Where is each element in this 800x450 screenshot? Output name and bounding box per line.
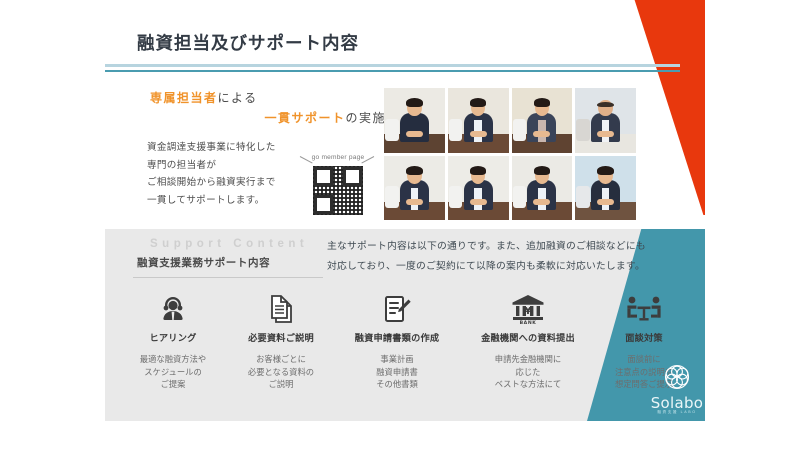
- support-item-description: 最適な融資方法や スケジュールの ご提案: [117, 353, 229, 391]
- staff-photo: [575, 156, 636, 221]
- brand-wordmark-sub: 融資支援 LABO: [649, 410, 705, 415]
- support-item-label: 面談対策: [595, 330, 693, 344]
- header-rule-thick: [105, 64, 680, 67]
- support-item-label: 必要資料ご説明: [229, 330, 333, 344]
- solabo-flower-logo: [660, 363, 694, 393]
- document-pencil-icon: [333, 291, 461, 325]
- subtitle-rest-2: の実施: [345, 111, 386, 125]
- qr-label: go member page: [304, 154, 372, 161]
- desc-line: ご説明: [229, 378, 333, 391]
- staff-photo: [448, 88, 509, 153]
- staff-photo: [384, 156, 445, 221]
- intro-paragraph: 資金調達支援事業に特化した 専門の担当者が ご相談開始から融資実行まで 一貫して…: [147, 139, 322, 209]
- subtitle-accent-2: 一貫サポート: [264, 111, 345, 125]
- staff-photo-grid: [384, 88, 636, 220]
- desc-line: 最適な融資方法や: [117, 353, 229, 366]
- support-item-label: 融資申請書類の作成: [333, 330, 461, 344]
- bank-icon: ¥ BANK: [461, 291, 595, 325]
- desc-line: 申請先金融機関に: [461, 353, 595, 366]
- staff-photo: [512, 156, 573, 221]
- support-item-description: 事業計画 融資申請書 その他書類: [333, 353, 461, 391]
- desc-line: スケジュールの: [117, 366, 229, 379]
- support-item-bank-submission[interactable]: ¥ BANK 金融機関への資料提出 申請先金融機関に 応じた ベストな方法にて: [461, 291, 595, 391]
- support-item-label: 金融機関への資料提出: [461, 330, 595, 344]
- staff-photo: [512, 88, 573, 153]
- panel-heading-jp: 融資支援業務サポート内容: [137, 255, 270, 270]
- intro-line: ご相談開始から融資実行まで: [147, 174, 322, 192]
- support-items-list: ヒアリング 最適な融資方法や スケジュールの ご提案: [117, 291, 693, 391]
- panel-description: 主なサポート内容は以下の通りです。また、追加融資のご相談などにも 対応しており、…: [327, 237, 697, 277]
- support-item-application[interactable]: 融資申請書類の作成 事業計画 融資申請書 その他書類: [333, 291, 461, 391]
- desc-line: お客様ごとに: [229, 353, 333, 366]
- desc-line: その他書類: [333, 378, 461, 391]
- intro-line: 専門の担当者が: [147, 157, 322, 175]
- documents-icon: [229, 291, 333, 325]
- panel-description-line: 対応しており、一度のご契約にて以降の案内も柔軟に対応いたします。: [327, 257, 697, 277]
- interview-table-icon: [595, 291, 693, 325]
- subtitle-rest-1: による: [218, 91, 258, 105]
- support-content-panel: Support Content 融資支援業務サポート内容 主なサポート内容は以下…: [105, 229, 705, 421]
- staff-photo: [575, 88, 636, 153]
- svg-text:¥: ¥: [525, 306, 532, 317]
- subtitle-accent-1: 専属担当者: [150, 91, 218, 105]
- subtitle: 専属担当者による 一貫サポートの実施: [150, 88, 390, 128]
- qr-code-icon[interactable]: [313, 166, 363, 215]
- desc-line: 融資申請書: [333, 366, 461, 379]
- intro-line: 資金調達支援事業に特化した: [147, 139, 322, 157]
- copyright-line: ©2021 SoLabo,Inc: [615, 420, 703, 431]
- copyright-line: All Rights Reserved: [615, 431, 703, 442]
- intro-line: 一貫してサポートします。: [147, 192, 322, 210]
- slide-canvas: 融資担当及びサポート内容 専属担当者による 一貫サポートの実施 資金調達支援事業…: [0, 0, 705, 450]
- header-rule-thin: [105, 70, 680, 72]
- panel-heading-rule: [133, 277, 323, 278]
- qr-block[interactable]: go member page: [301, 156, 373, 218]
- desc-line: 必要となる資料の: [229, 366, 333, 379]
- support-item-hearing[interactable]: ヒアリング 最適な融資方法や スケジュールの ご提案: [117, 291, 229, 391]
- desc-line: 応じた: [461, 366, 595, 379]
- support-item-description: 申請先金融機関に 応じた ベストな方法にて: [461, 353, 595, 391]
- desc-line: ご提案: [117, 378, 229, 391]
- desc-line: ベストな方法にて: [461, 378, 595, 391]
- staff-photo: [448, 156, 509, 221]
- panel-heading-en: Support Content: [150, 238, 308, 250]
- staff-photo: [384, 88, 445, 153]
- headset-person-icon: [117, 291, 229, 325]
- support-item-documents[interactable]: 必要資料ご説明 お客様ごとに 必要となる資料の ご説明: [229, 291, 333, 391]
- page-title: 融資担当及びサポート内容: [137, 30, 359, 55]
- copyright: ©2021 SoLabo,Inc All Rights Reserved: [615, 420, 703, 441]
- support-item-label: ヒアリング: [117, 330, 229, 344]
- brand-logo: Solabo 融資支援 LABO: [650, 363, 702, 415]
- support-item-description: お客様ごとに 必要となる資料の ご説明: [229, 353, 333, 391]
- desc-line: 事業計画: [333, 353, 461, 366]
- panel-description-line: 主なサポート内容は以下の通りです。また、追加融資のご相談などにも: [327, 237, 697, 257]
- svg-text:BANK: BANK: [520, 320, 537, 325]
